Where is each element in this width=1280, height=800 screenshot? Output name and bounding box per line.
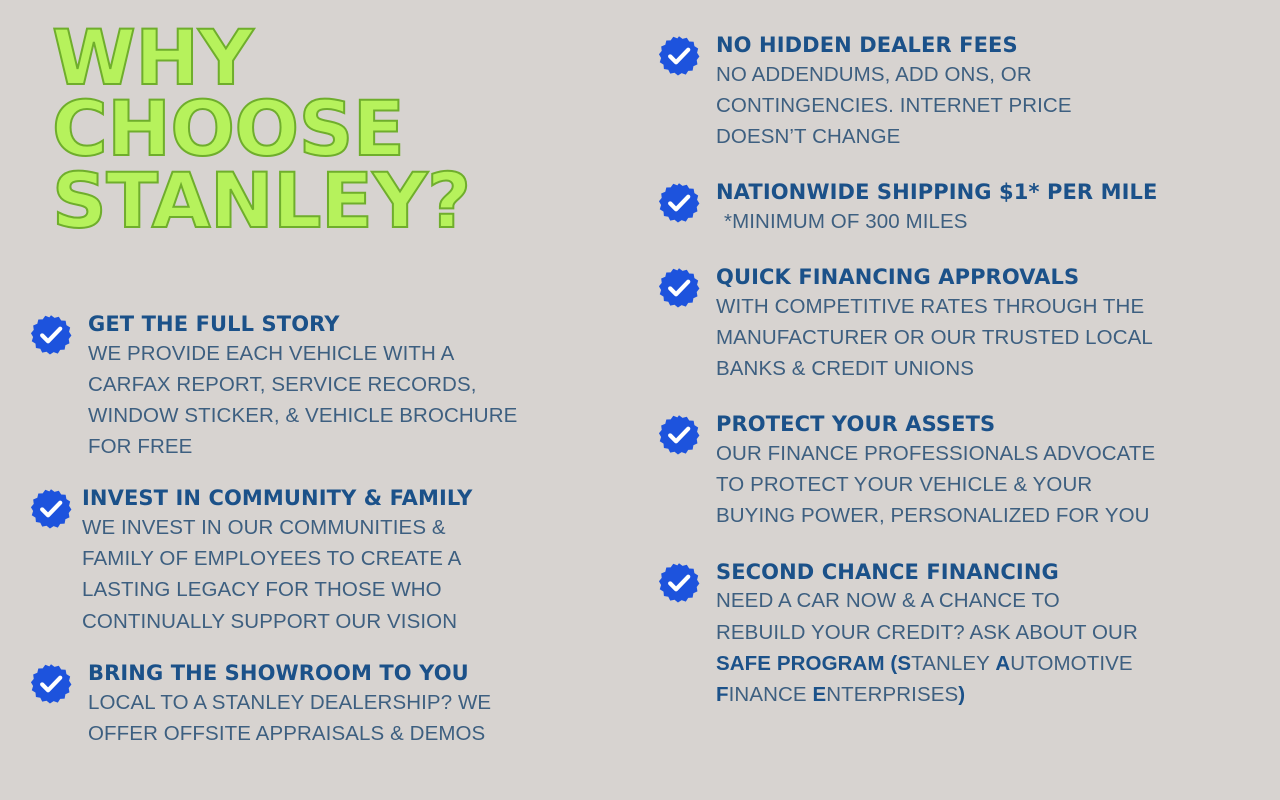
list-item: PROTECT YOUR ASSETS OUR FINANCE PROFESSI… bbox=[658, 412, 1258, 531]
list-item: BRING THE SHOWROOM TO YOU LOCAL TO A STA… bbox=[30, 661, 605, 749]
feature-body: WE PROVIDE EACH VEHICLE WITH A CARFAX RE… bbox=[88, 338, 605, 463]
feature-body: NEED A CAR NOW & A CHANCE TOREBUILD YOUR… bbox=[716, 585, 1258, 710]
feature-body: LOCAL TO A STANLEY DEALERSHIP? WE OFFER … bbox=[88, 687, 605, 749]
feature-title: BRING THE SHOWROOM TO YOU bbox=[88, 661, 605, 686]
feature-title: NO HIDDEN DEALER FEES bbox=[716, 33, 1258, 58]
safe-program-bold-4: E bbox=[812, 683, 826, 706]
check-badge-icon bbox=[658, 562, 700, 604]
check-badge-icon bbox=[658, 182, 700, 224]
list-item: INVEST IN COMMUNITY & FAMILY WE INVEST I… bbox=[30, 486, 605, 636]
feature-body: WE INVEST IN OUR COMMUNITIES & FAMILY OF… bbox=[82, 512, 605, 637]
check-badge-icon bbox=[658, 35, 700, 77]
list-item: QUICK FINANCING APPROVALS WITH COMPETITI… bbox=[658, 265, 1258, 384]
safe-program-plain-2: UTOMOTIVE bbox=[1010, 652, 1132, 675]
feature-title: SECOND CHANCE FINANCING bbox=[716, 560, 1258, 585]
body-line-1: NEED A CAR NOW & A CHANCE TO bbox=[716, 589, 1060, 612]
safe-program-bold-5: ) bbox=[958, 683, 965, 706]
check-badge-icon bbox=[30, 488, 72, 530]
list-item: GET THE FULL STORY WE PROVIDE EACH VEHIC… bbox=[30, 312, 605, 462]
why-choose-stanley-poster: WHY CHOOSE STANLEY? GET THE FULL STORY W… bbox=[0, 0, 1280, 800]
feature-title: GET THE FULL STORY bbox=[88, 312, 605, 337]
feature-body: WITH COMPETITIVE RATES THROUGH THE MANUF… bbox=[716, 291, 1258, 384]
check-badge-icon bbox=[30, 663, 72, 705]
feature-title: INVEST IN COMMUNITY & FAMILY bbox=[82, 486, 605, 511]
right-feature-list: NO HIDDEN DEALER FEES NO ADDENDUMS, ADD … bbox=[658, 33, 1258, 710]
feature-body: OUR FINANCE PROFESSIONALS ADVOCATE TO PR… bbox=[716, 438, 1258, 531]
check-badge-icon bbox=[30, 314, 72, 356]
feature-title: NATIONWIDE SHIPPING $1* PER MILE bbox=[716, 180, 1258, 205]
check-badge-icon bbox=[658, 414, 700, 456]
list-item: NO HIDDEN DEALER FEES NO ADDENDUMS, ADD … bbox=[658, 33, 1258, 152]
list-item: SECOND CHANCE FINANCING NEED A CAR NOW &… bbox=[658, 560, 1258, 710]
body-line-2: REBUILD YOUR CREDIT? ASK ABOUT OUR bbox=[716, 621, 1138, 644]
safe-program-plain-4: NTERPRISES bbox=[826, 683, 958, 706]
feature-title: PROTECT YOUR ASSETS bbox=[716, 412, 1258, 437]
feature-title: QUICK FINANCING APPROVALS bbox=[716, 265, 1258, 290]
left-feature-list: GET THE FULL STORY WE PROVIDE EACH VEHIC… bbox=[30, 312, 605, 749]
list-item: NATIONWIDE SHIPPING $1* PER MILE *MINIMU… bbox=[658, 180, 1258, 237]
feature-body-footnote: *MINIMUM OF 300 MILES bbox=[716, 206, 1258, 237]
safe-program-bold-3: F bbox=[716, 683, 729, 706]
safe-program-bold-2: A bbox=[995, 652, 1010, 675]
safe-program-plain-1: TANLEY bbox=[911, 652, 995, 675]
feature-body: NO ADDENDUMS, ADD ONS, OR CONTINGENCIES.… bbox=[716, 59, 1258, 152]
safe-program-plain-3: INANCE bbox=[729, 683, 813, 706]
safe-program-bold-1: SAFE PROGRAM (S bbox=[716, 652, 911, 675]
check-badge-icon bbox=[658, 267, 700, 309]
